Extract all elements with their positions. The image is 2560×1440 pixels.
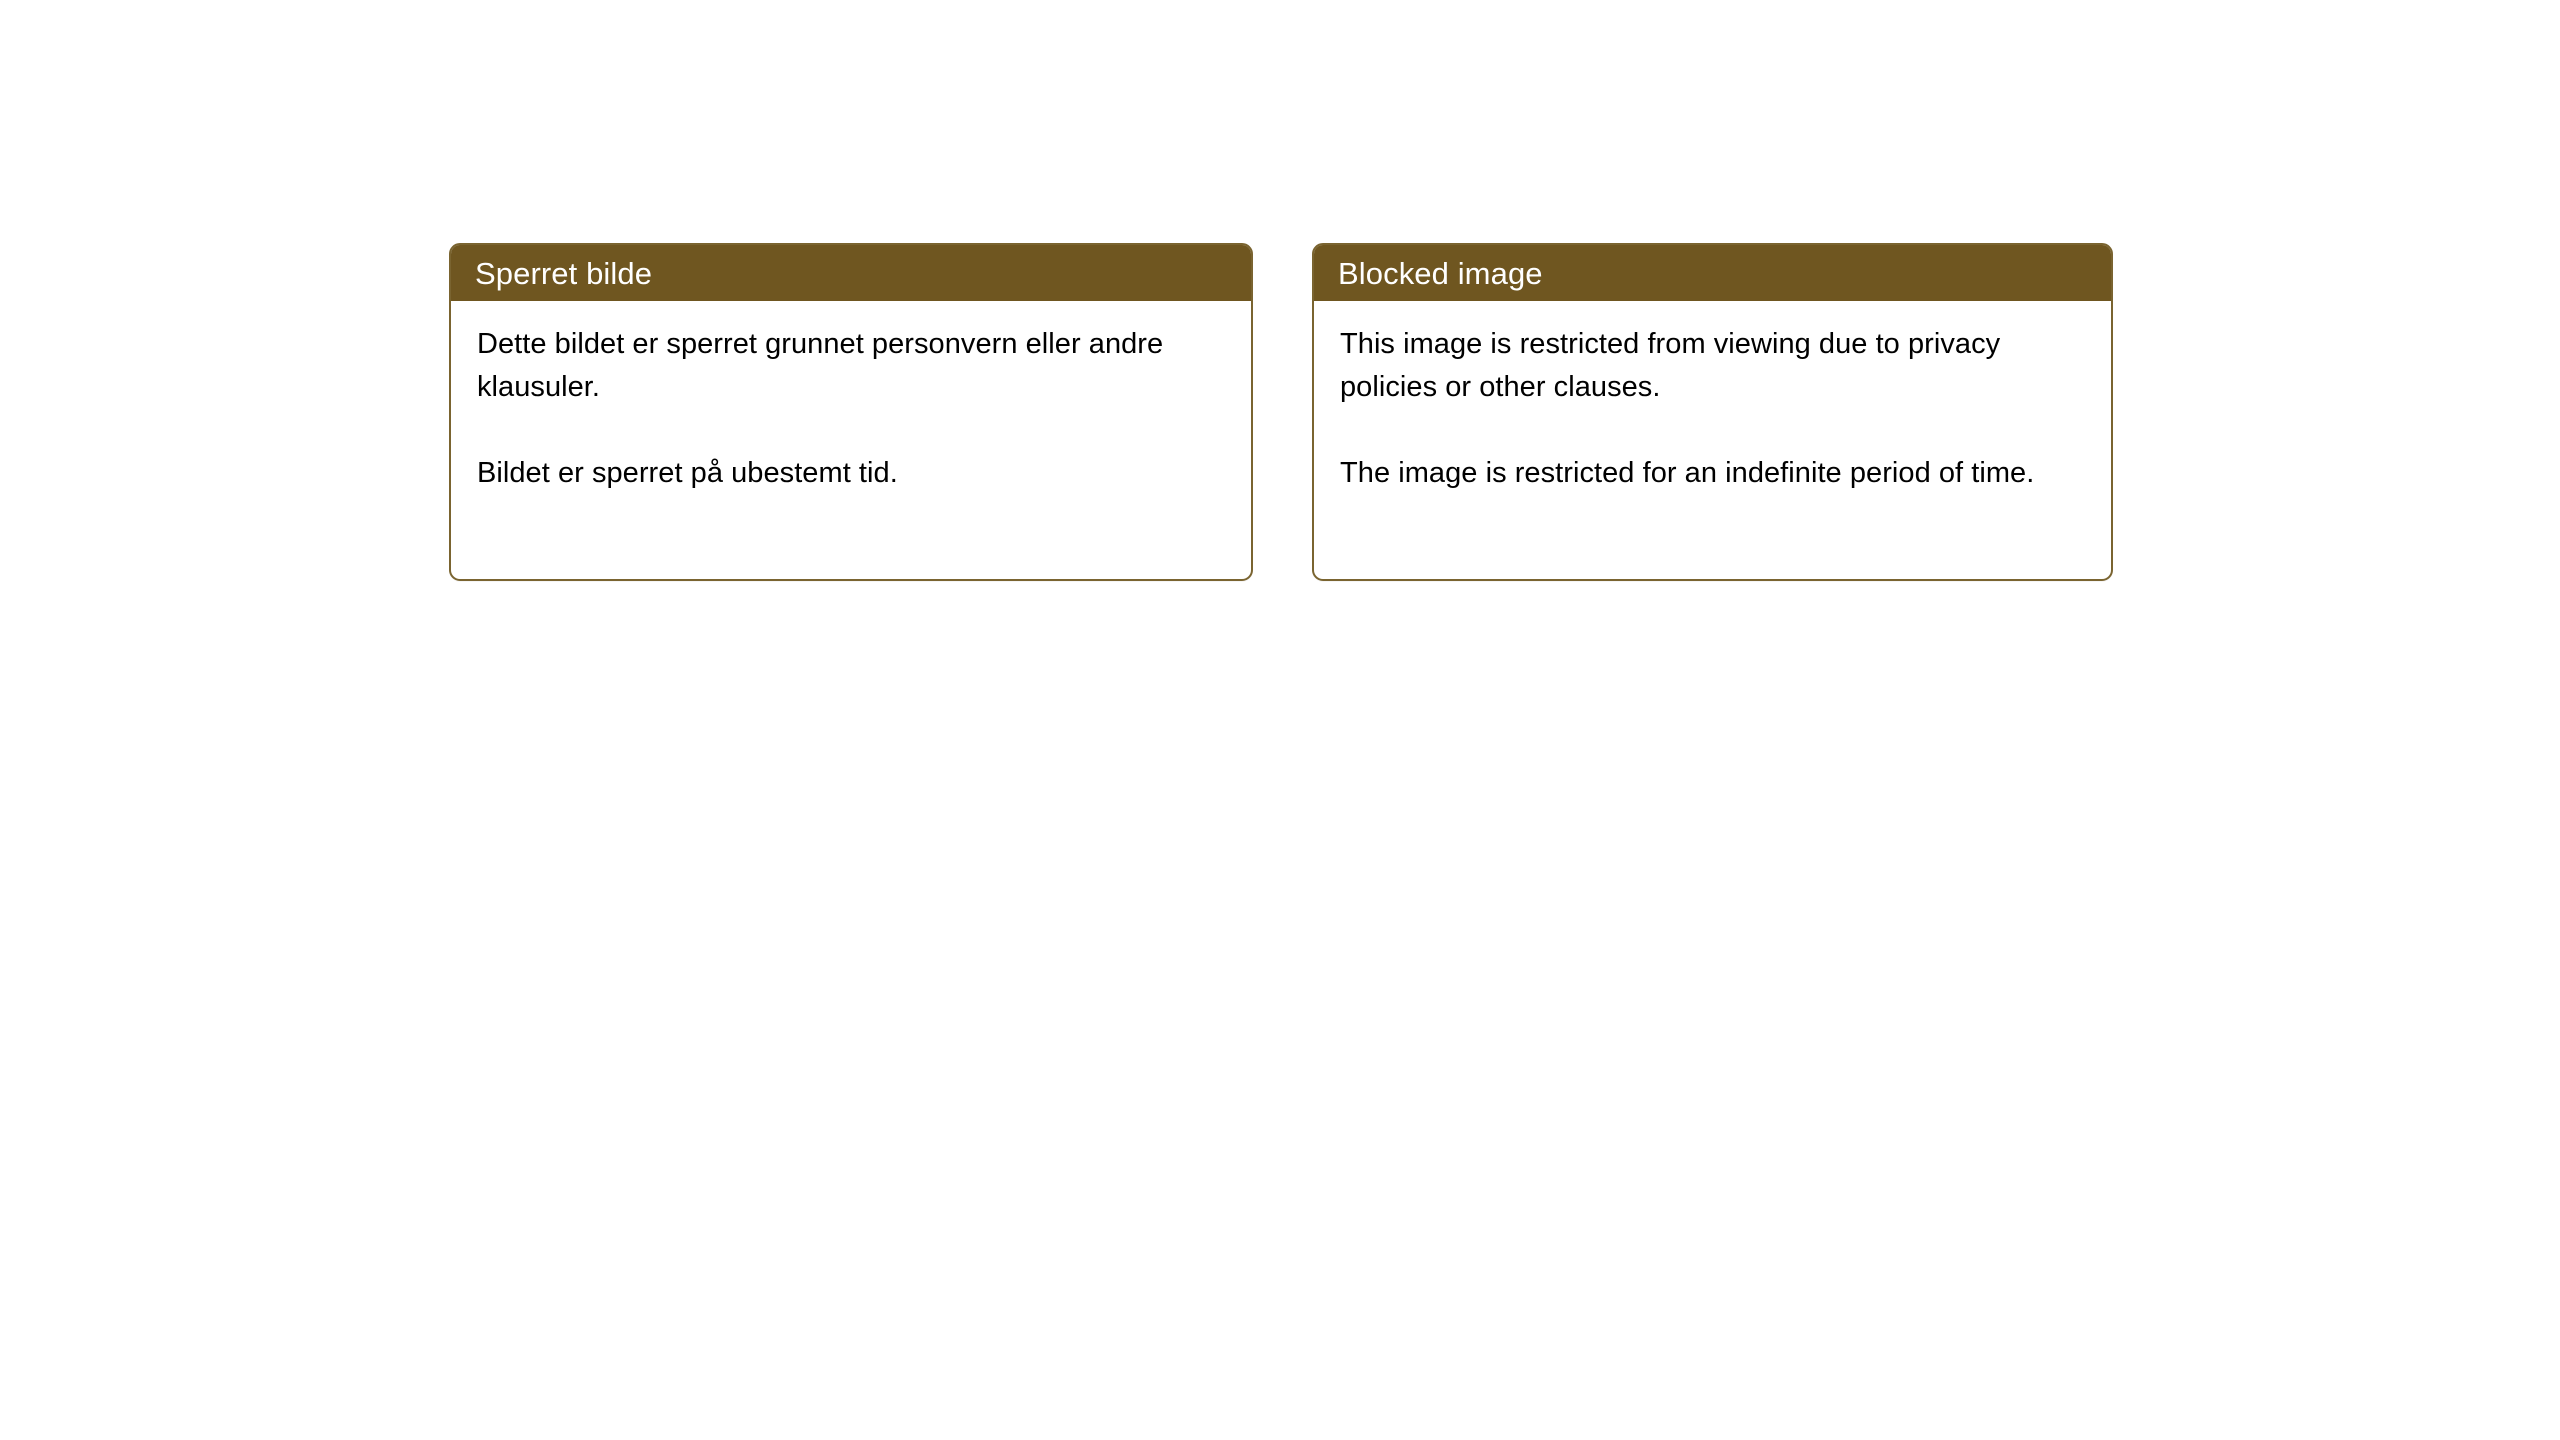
card-paragraph-primary-norwegian: Dette bildet er sperret grunnet personve… (477, 323, 1225, 409)
page-root: Sperret bilde Dette bildet er sperret gr… (0, 0, 2560, 1440)
card-body-norwegian: Dette bildet er sperret grunnet personve… (451, 301, 1251, 495)
card-title-norwegian: Sperret bilde (475, 258, 652, 289)
blocked-image-card-english: Blocked image This image is restricted f… (1312, 243, 2113, 581)
card-paragraph-secondary-norwegian: Bildet er sperret på ubestemt tid. (477, 452, 1225, 495)
card-body-english: This image is restricted from viewing du… (1314, 301, 2111, 495)
card-paragraph-secondary-english: The image is restricted for an indefinit… (1340, 452, 2085, 495)
card-header-norwegian: Sperret bilde (451, 245, 1251, 301)
blocked-image-card-norwegian: Sperret bilde Dette bildet er sperret gr… (449, 243, 1253, 581)
card-paragraph-primary-english: This image is restricted from viewing du… (1340, 323, 2085, 409)
card-header-english: Blocked image (1314, 245, 2111, 301)
card-title-english: Blocked image (1338, 258, 1543, 289)
